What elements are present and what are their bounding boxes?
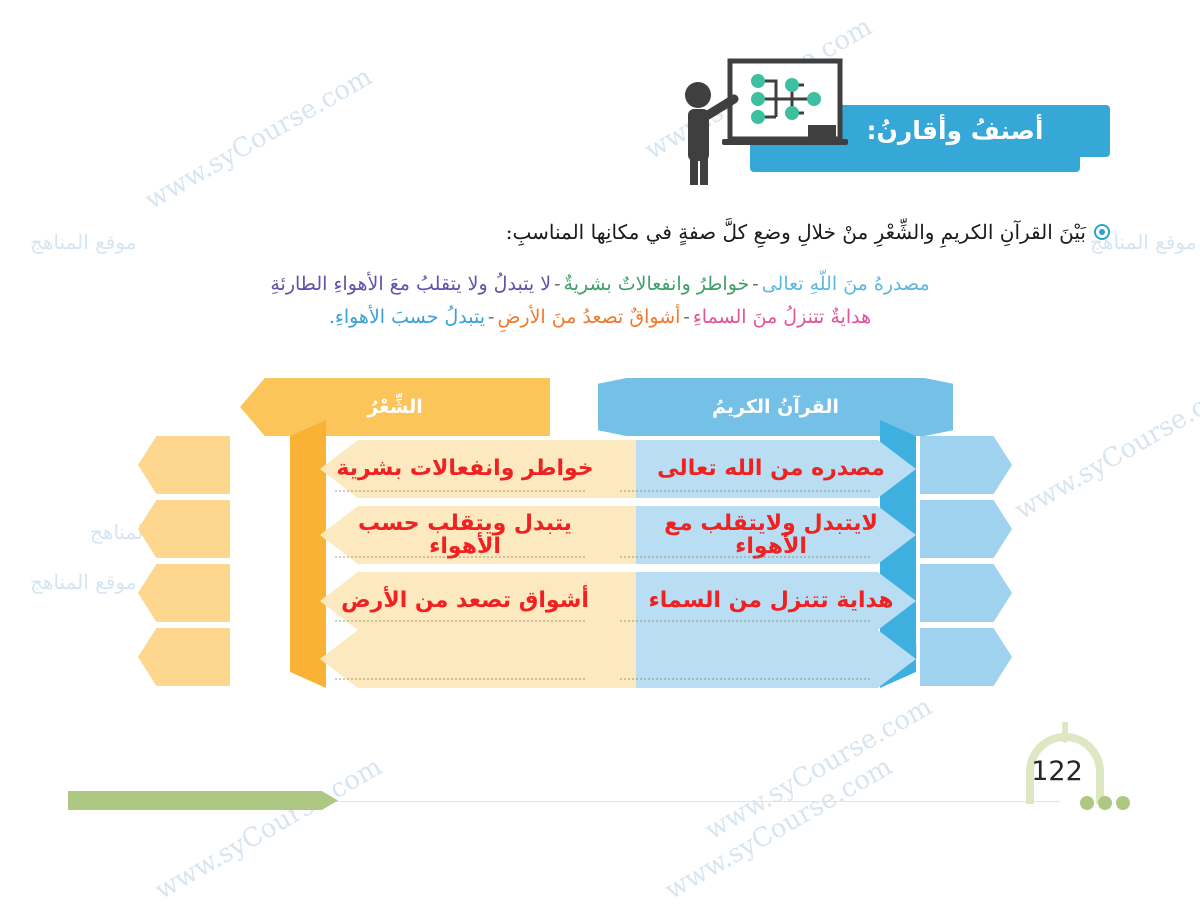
target-bullet-icon (1094, 224, 1110, 240)
writing-guide-line (620, 490, 870, 492)
phrase-separator: - (749, 273, 761, 295)
writing-guide-line (620, 556, 870, 558)
writing-guide-line (335, 620, 585, 622)
footer-dots-icon (1078, 794, 1138, 812)
phrase-segment: خواطرُ وانفعالاتٌ بشريةٌ (564, 273, 750, 295)
instruction-row: بَيْنَ القرآنِ الكريمِ والشِّعْرِ منْ خل… (90, 218, 1110, 246)
footer-accent-bar (68, 791, 338, 810)
instruction-text: بَيْنَ القرآنِ الكريمِ والشِّعْرِ منْ خل… (506, 218, 1086, 246)
teacher-at-board-icon (670, 55, 900, 185)
stub-chevron-quran (920, 564, 1012, 622)
answer-text: مصدره من الله تعالى (626, 457, 916, 480)
section-header-banner: أصنفُ وأقارنُ: (680, 60, 1110, 190)
stub-chevron-shear (138, 500, 230, 558)
writing-guide-line (335, 556, 585, 558)
phrase-segment: لا يتبدلُ ولا يتقلبُ معَ الأهواءِ الطارئ… (270, 273, 551, 295)
watermark-latin: www.syCourse.com (140, 62, 377, 216)
stub-chevron-quran (920, 500, 1012, 558)
phrase-separator: - (551, 273, 563, 295)
stub-chevron-quran (920, 628, 1012, 686)
phrase-separator: - (680, 306, 692, 328)
stub-chevron-shear (138, 628, 230, 686)
answer-text: هداية تتنزل من السماء (626, 589, 916, 612)
phrase-segment: مصدرهُ منَ اللّهِ تعالى (762, 273, 930, 295)
phrase-segment: أشواقٌ تصعدُ منَ الأرضِ (497, 306, 680, 328)
page-number: 122 (1022, 756, 1092, 787)
column-header-shear: الشِّعْرُ (240, 378, 550, 436)
watermark-latin: www.syCourse.com (700, 692, 937, 846)
comparison-diagram: القرآنُ الكريمُ الشِّعْرُ مصدره من الله … (120, 378, 1080, 698)
watermark-latin: www.syCourse.com (660, 752, 897, 906)
stub-chevron-quran (920, 436, 1012, 494)
phrase-segment: هدايةٌ تتنزلُ منَ السماءِ (693, 306, 871, 328)
stub-chevron-shear (138, 436, 230, 494)
answer-text: أشواق تصعد من الأرض (320, 589, 610, 612)
answer-text: يتبدل ويتقلب حسب الأهواء (320, 512, 610, 558)
spine-shear (290, 420, 326, 688)
phrase-separator: - (485, 306, 497, 328)
writing-guide-line (620, 620, 870, 622)
phrase-segment: يتبدلُ حسبَ الأهواءِ. (329, 306, 485, 328)
phrase-line: مصدرهُ منَ اللّهِ تعالى-خواطرُ وانفعالات… (90, 268, 1110, 301)
answer-text: خواطر وانفعالات بشرية (320, 457, 610, 480)
stub-chevron-shear (138, 564, 230, 622)
phrase-line: هدايةٌ تتنزلُ منَ السماءِ-أشواقٌ تصعدُ م… (90, 301, 1110, 334)
answer-text: لايتبدل ولايتقلب مع الأهواء (626, 512, 916, 558)
writing-guide-line (335, 490, 585, 492)
writing-guide-line (335, 678, 585, 680)
phrase-bank: مصدرهُ منَ اللّهِ تعالى-خواطرُ وانفعالات… (90, 268, 1110, 335)
column-header-quran: القرآنُ الكريمُ (598, 378, 953, 436)
watermark-latin: www.syCourse.com (150, 752, 387, 906)
writing-guide-line (620, 678, 870, 680)
